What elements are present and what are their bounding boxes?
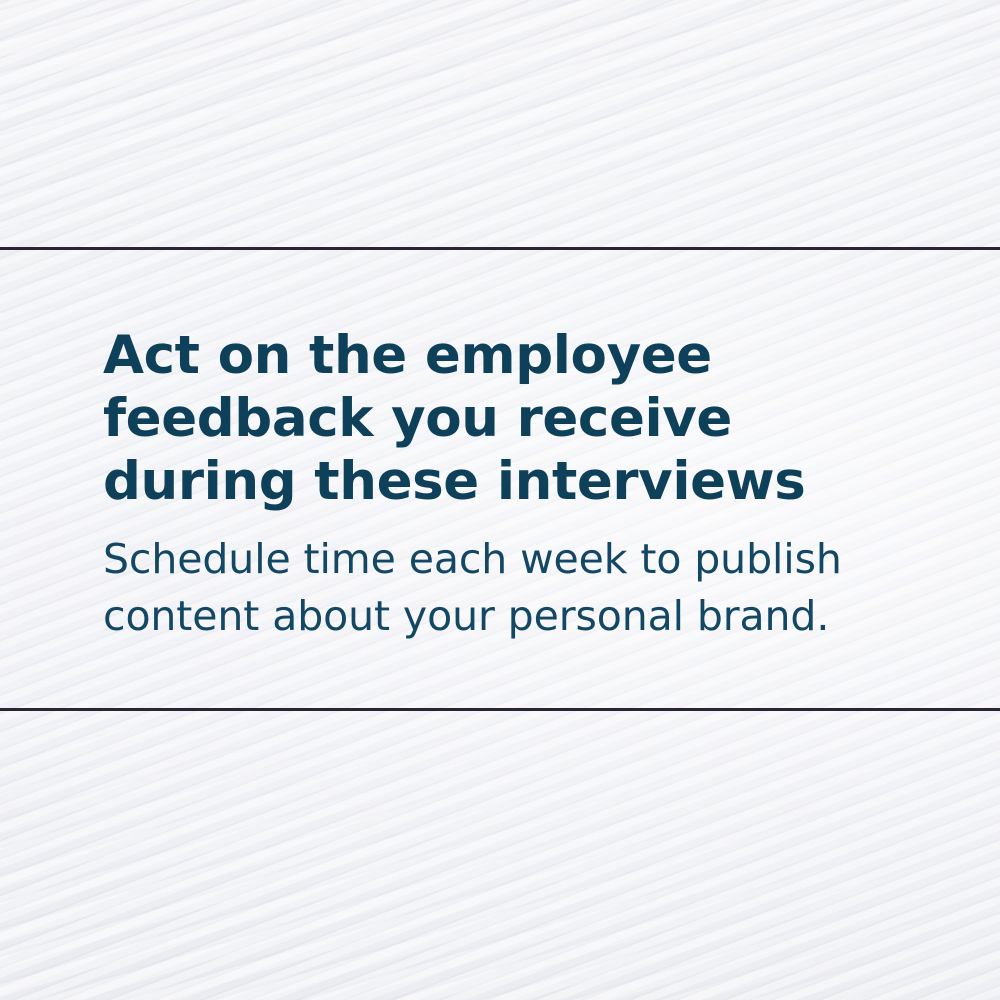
content-band: Act on the employee feedback you receive… xyxy=(0,250,1000,708)
quote-card: Act on the employee feedback you receive… xyxy=(0,0,1000,1000)
headline-text: Act on the employee feedback you receive… xyxy=(103,324,940,513)
text-block: Act on the employee feedback you receive… xyxy=(103,324,940,645)
subheadline-text: Schedule time each week to publish conte… xyxy=(103,513,940,645)
divider-bottom xyxy=(0,708,1000,711)
